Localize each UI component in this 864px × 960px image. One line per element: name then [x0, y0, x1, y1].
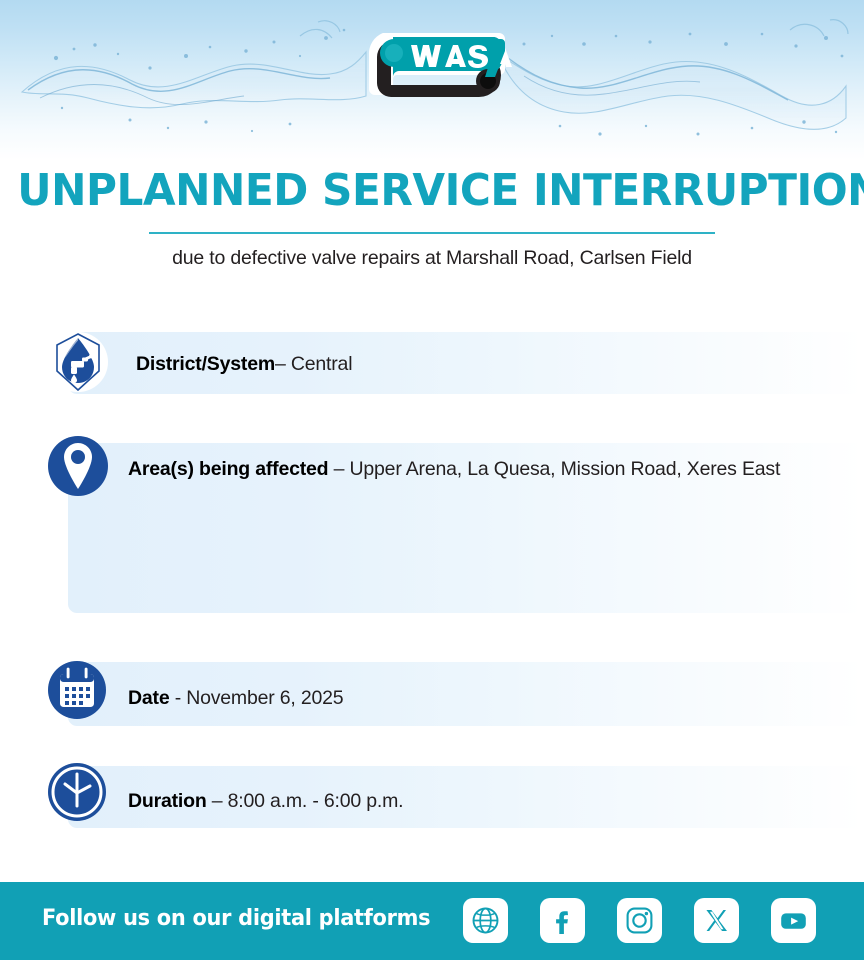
- duration-value: 8:00 a.m. - 6:00 p.m.: [228, 790, 404, 812]
- date-label: Date: [128, 687, 169, 709]
- date-value: November 6, 2025: [186, 687, 343, 709]
- social-links: [463, 898, 816, 943]
- map-pin-icon: [47, 435, 109, 502]
- footer-follow-text: Follow us on our digital platforms: [42, 906, 430, 931]
- area-label: Area(s) being affected: [128, 458, 328, 480]
- date-separator: -: [175, 687, 181, 709]
- service-interruption-poster: UNPLANNED SERVICE INTERRUPTION due to de…: [0, 0, 864, 960]
- x-twitter-icon[interactable]: [694, 898, 739, 943]
- area-separator: –: [334, 458, 345, 480]
- district-row-text: District/System– Central: [136, 353, 352, 376]
- page-title: UNPLANNED SERVICE INTERRUPTION: [17, 168, 846, 214]
- facebook-icon[interactable]: [540, 898, 585, 943]
- district-label: District/System: [136, 353, 275, 375]
- title-block: UNPLANNED SERVICE INTERRUPTION due to de…: [0, 168, 864, 270]
- clock-icon: [47, 762, 107, 827]
- wasa-logo: [367, 27, 512, 101]
- area-row-text: Area(s) being affected – Upper Arena, La…: [128, 458, 780, 481]
- youtube-icon[interactable]: [771, 898, 816, 943]
- calendar-icon: [47, 660, 107, 725]
- district-value: Central: [291, 353, 352, 375]
- duration-label: Duration: [128, 790, 207, 812]
- duration-row-text: Duration – 8:00 a.m. - 6:00 p.m.: [128, 790, 403, 813]
- water-drop-tap-icon: [47, 331, 109, 398]
- district-separator: –: [275, 353, 286, 375]
- page-subtitle: due to defective valve repairs at Marsha…: [0, 247, 864, 270]
- website-icon[interactable]: [463, 898, 508, 943]
- wasa-logo-mark: [367, 27, 512, 101]
- instagram-icon[interactable]: [617, 898, 662, 943]
- header-banner: [0, 0, 864, 160]
- title-divider: [149, 232, 715, 234]
- area-value: Upper Arena, La Quesa, Mission Road, Xer…: [350, 458, 781, 480]
- date-row-text: Date - November 6, 2025: [128, 687, 343, 710]
- duration-separator: –: [212, 790, 223, 812]
